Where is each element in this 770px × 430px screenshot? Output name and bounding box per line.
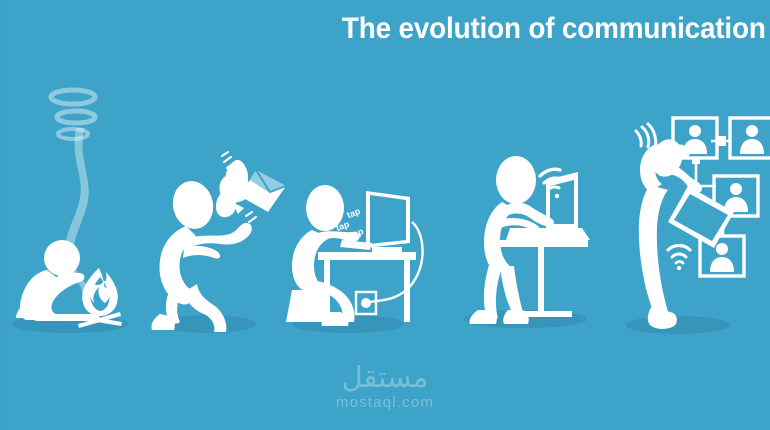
illustration-canvas: The evolution of communication tap tap t… <box>0 0 770 430</box>
node-2-avatar-body <box>740 139 764 154</box>
monitor-display <box>370 195 406 244</box>
torso-scene-5 <box>639 185 670 320</box>
scene-laptop-wifi <box>469 156 590 324</box>
scene-smoke-signals <box>16 90 122 328</box>
foot-back-scene-4 <box>469 310 496 324</box>
artwork-layer <box>0 0 770 430</box>
tablet <box>667 186 734 248</box>
desk-top <box>318 252 416 260</box>
node-2-avatar-head <box>746 125 758 137</box>
arm-lower-scene-2 <box>183 246 220 259</box>
monitor-stand <box>372 247 402 252</box>
wifi-arc-outer-phone <box>642 127 649 147</box>
smoke-rings <box>51 90 95 139</box>
scene-mobile-social-network <box>636 118 770 329</box>
table-post <box>538 247 544 315</box>
leg-front-scene-2 <box>184 284 226 332</box>
network-node-2 <box>730 118 770 158</box>
smoke-ring-2 <box>57 111 95 123</box>
desk-leg-right <box>404 260 410 322</box>
motion-line-1 <box>222 152 228 156</box>
motion-line-5 <box>249 217 256 222</box>
motion-line-2 <box>224 157 231 162</box>
foot-front-scene-4 <box>503 310 529 324</box>
scene-carrier-pigeon <box>151 152 286 332</box>
table-top <box>496 240 588 247</box>
wifi-dot-tablet <box>677 266 681 270</box>
node-3-avatar-head <box>730 183 742 195</box>
wifi-arc-inner-tablet <box>676 262 683 264</box>
head-scene-1 <box>44 240 80 276</box>
page-title: The evolution of communication <box>342 12 766 46</box>
head-scene-4 <box>496 156 536 204</box>
node-1-avatar-head <box>689 125 701 137</box>
smoke-ring-1 <box>51 90 95 104</box>
laptop-base <box>506 228 590 240</box>
wifi-arc-outer-tablet <box>668 246 690 251</box>
wifi-dot-4 <box>555 194 559 198</box>
node-4-avatar-body <box>710 257 734 272</box>
wifi-signal-phone <box>636 124 656 149</box>
node-4-avatar-head <box>716 243 728 255</box>
outlet-socket <box>361 298 371 308</box>
crt-monitor <box>366 191 410 252</box>
tablet-button <box>667 223 672 228</box>
power-outlet <box>356 292 376 314</box>
wifi-arc-outer-4 <box>540 169 560 176</box>
head-scene-2 <box>168 177 217 232</box>
smoke-ring-3 <box>58 129 88 139</box>
leg-front-scene-4 <box>500 266 524 318</box>
motion-line-4 <box>246 212 252 216</box>
wifi-signal-tablet <box>668 246 690 271</box>
wifi-arc-mid-tablet <box>672 254 686 257</box>
wifi-arc-inner-phone <box>636 131 641 146</box>
